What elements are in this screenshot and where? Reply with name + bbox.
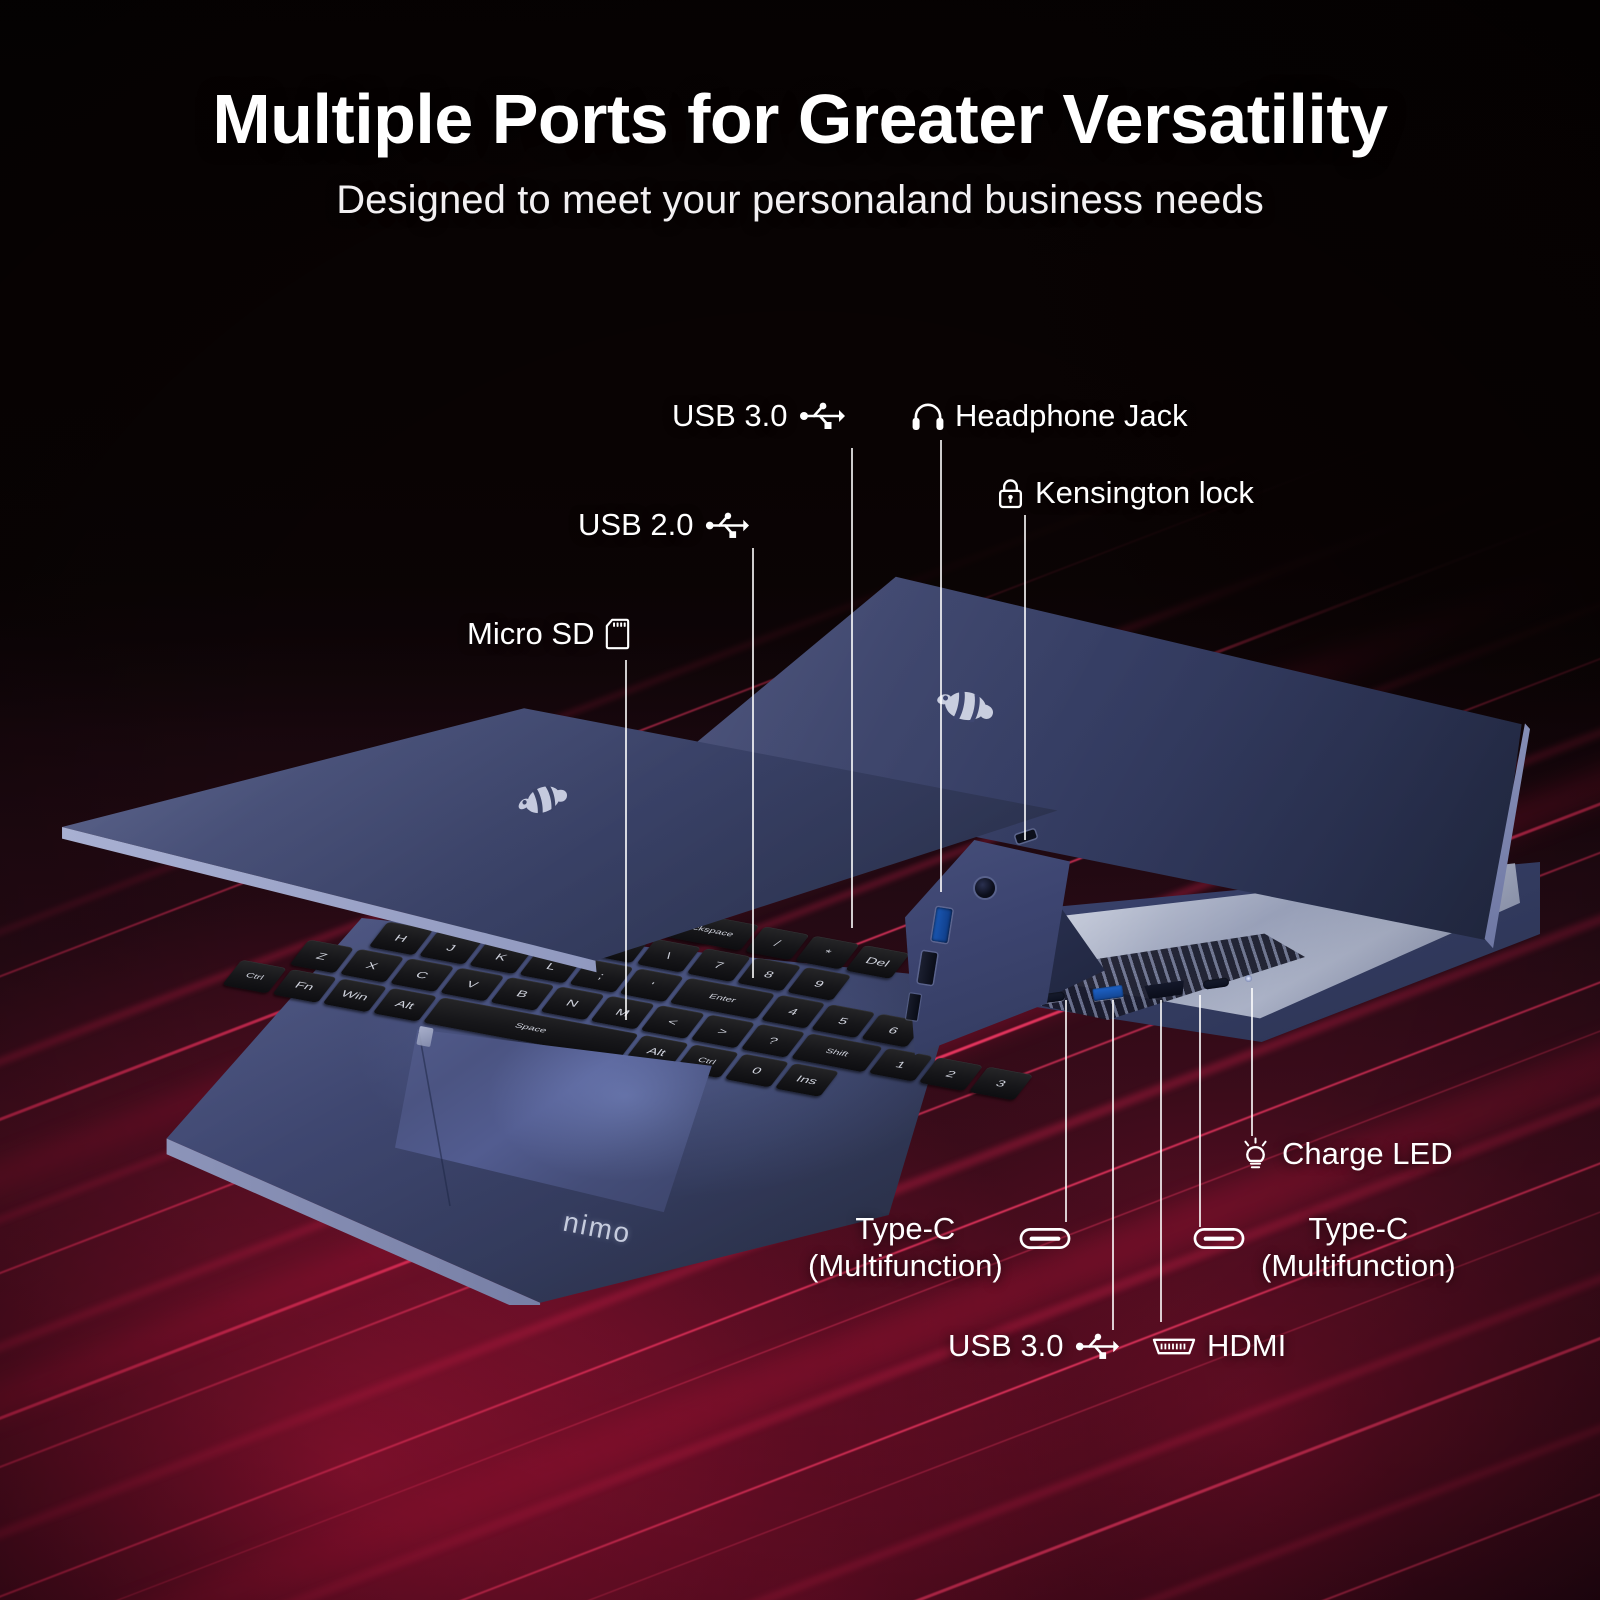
callout-micro-sd: Micro SD	[467, 616, 630, 653]
microsd-card-icon	[605, 618, 630, 650]
leader-line-headphone	[940, 440, 942, 892]
callout-hdmi: HDMI	[1152, 1328, 1286, 1365]
hdmi-port-icon	[1152, 1336, 1196, 1357]
callout-kensington-lock: Kensington lock	[997, 475, 1254, 512]
callout-usb-3-0-top: USB 3.0	[672, 398, 846, 435]
callout-label-charge-led: Charge LED	[1282, 1136, 1453, 1173]
usb-trident-icon	[798, 401, 846, 431]
callout-label-usb-3-0-bottom: USB 3.0	[948, 1328, 1063, 1365]
leader-line-usb-3-0-bottom	[1112, 1000, 1114, 1330]
usb-type-c-icon	[1193, 1226, 1245, 1251]
callout-label-headphone-jack: Headphone Jack	[955, 398, 1188, 435]
callout-layer: USB 3.0 USB 2.0	[0, 0, 1600, 1600]
padlock-icon	[997, 478, 1024, 509]
callout-label-usb-2-0: USB 2.0	[578, 507, 693, 544]
callout-label-type-c-right-line2: (Multifunction)	[1261, 1247, 1456, 1284]
lightbulb-icon	[1240, 1137, 1271, 1172]
usb-trident-icon	[704, 511, 750, 540]
callout-label-type-c-right-line1: Type-C	[1261, 1210, 1456, 1247]
leader-line-usb-2-0	[752, 548, 754, 978]
usb-trident-icon	[1074, 1332, 1120, 1361]
leader-line-micro-sd	[625, 660, 627, 1020]
leader-line-type-c-right	[1199, 995, 1201, 1227]
callout-label-hdmi: HDMI	[1207, 1328, 1286, 1365]
leader-line-kensington-2	[1024, 515, 1026, 840]
usb-type-c-icon	[1019, 1226, 1071, 1251]
callout-usb-2-0: USB 2.0	[578, 507, 750, 544]
callout-type-c-left: Type-C (Multifunction)	[808, 1210, 1071, 1284]
callout-charge-led: Charge LED	[1240, 1136, 1453, 1173]
leader-line-charge-led	[1251, 988, 1253, 1136]
callout-type-c-right: Type-C (Multifunction)	[1193, 1210, 1456, 1284]
callout-usb-3-0-bottom: USB 3.0	[948, 1328, 1120, 1365]
headphone-icon	[912, 402, 944, 430]
callout-headphone-jack: Headphone Jack	[912, 398, 1188, 435]
callout-label-usb-3-0-top: USB 3.0	[672, 398, 787, 435]
leader-line-hdmi-2	[1160, 1000, 1162, 1322]
leader-line-type-c-left	[1065, 1000, 1067, 1222]
infographic-canvas: Multiple Ports for Greater Versatility D…	[0, 0, 1600, 1600]
callout-label-micro-sd: Micro SD	[467, 616, 594, 653]
callout-label-type-c-left-line1: Type-C	[808, 1210, 1003, 1247]
leader-line-usb-3-0	[851, 448, 853, 928]
callout-label-type-c-left-line2: (Multifunction)	[808, 1247, 1003, 1284]
callout-label-kensington-lock: Kensington lock	[1035, 475, 1254, 512]
